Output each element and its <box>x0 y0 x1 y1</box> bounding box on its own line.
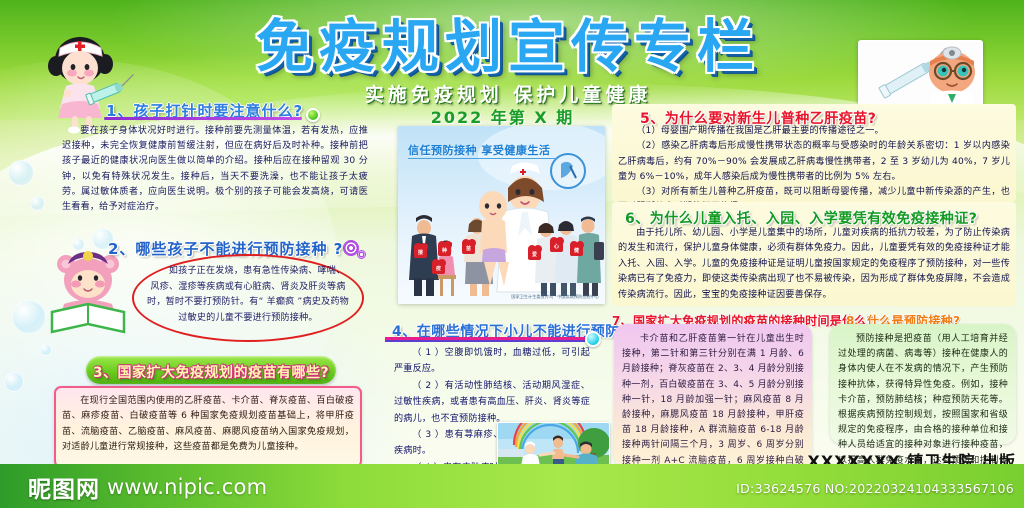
watermark-id-line: ID:33624576 NO:20220324104333567106 <box>736 481 1014 496</box>
watermark: 昵图网 www.nipic.com <box>28 470 267 504</box>
heart-badge: 种 <box>438 244 451 256</box>
decorative-bubble <box>4 372 24 392</box>
center-vaccination-photo: 信任预防接种 享受健康生活 接 种 疫 苗 爱 心 健 国家卫生计生委宣传司 ·… <box>398 126 605 304</box>
target-circle-small-icon <box>357 250 366 259</box>
decorative-bubble <box>30 196 45 211</box>
section-3-heading: 3、国家扩大免疫规划的疫苗有哪些? <box>86 362 336 382</box>
section-1-underline <box>104 117 302 120</box>
center-photo-credit: 国家卫生计生委宣传司 · 中国疾病预防控制中心 <box>511 294 599 300</box>
section-1-body: 要在孩子身体状况好时进行。接种前要先测量体温，若有发热，应推迟接种，未完全恢复健… <box>62 124 368 215</box>
section-3-body: 在现行全国范围内使用的乙肝疫苗、卡介苗、脊灰疫苗、百白破疫苗、麻疹疫苗、白破疫苗… <box>62 394 354 456</box>
center-photo-caption: 信任预防接种 享受健康生活 <box>408 142 550 158</box>
bear-reading-illustration <box>46 250 130 336</box>
section-7-body: 卡介苗和乙肝疫苗第一针在儿童出生时接种，第二针和第三针分别在满 1 月龄、6 月… <box>622 332 804 484</box>
section-4-underline-purple <box>385 340 585 342</box>
center-photo-caption-underline <box>408 158 558 159</box>
decorative-bubble <box>40 344 52 356</box>
page-title: 免疫规划宣传专栏 <box>148 16 868 78</box>
heart-badge: 爱 <box>528 248 541 260</box>
section-2-body: 如孩子正在发烧，患有急性传染病、哮喘、风疹、湿疹等疾病或有心脏病、肾炎及肝炎等病… <box>146 264 350 326</box>
section-6-body: 由于托儿所、幼儿园、小学是儿童集中的场所，儿童对疾病的抵抗力较差，为了防止传染病… <box>618 226 1010 303</box>
decorative-bubble <box>12 300 46 334</box>
issue-label: 2022 年第 X 期 <box>395 104 610 128</box>
poster-root: 免疫规划宣传专栏 实施免疫规划 保护儿童健康 2022 年第 X 期 1、孩子打… <box>0 0 1024 508</box>
heart-badge: 接 <box>414 246 427 258</box>
doctor-illustration <box>858 40 983 108</box>
section-6-heading: 6、为什么儿童入托、入园、入学要凭有效免疫接种证? <box>625 208 977 228</box>
heart-badge: 苗 <box>462 242 475 254</box>
green-dot-icon <box>306 108 320 122</box>
heart-badge: 疫 <box>432 262 445 274</box>
watermark-brand: 昵图网 <box>28 470 100 504</box>
watermark-url: www.nipic.com <box>107 475 267 499</box>
heart-badge: 心 <box>550 240 563 252</box>
heart-badge: 健 <box>570 244 583 256</box>
decorative-bubble <box>8 160 34 186</box>
